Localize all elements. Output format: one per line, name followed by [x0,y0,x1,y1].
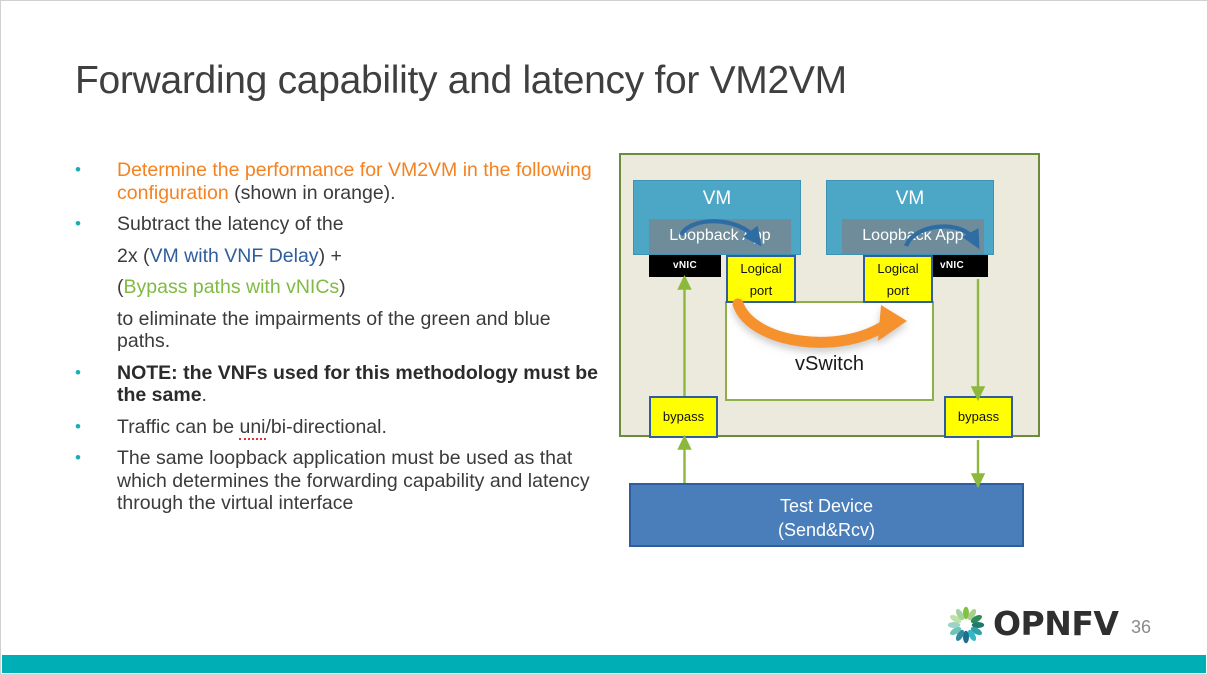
bullet-marker-icon: • [69,213,117,235]
opnfv-logo: OPNFV [945,603,1115,647]
opnfv-wordmark: OPNFV [993,604,1118,643]
bullet-text: Determine the performance for VM2VM in t… [117,159,609,204]
test-device-label-line2: (Send&Rcv) [631,518,1022,542]
bullet-segment-bold: NOTE: the VNFs used for this methodology… [117,362,598,407]
bullet-item-note-vnfs-same: • NOTE: the VNFs used for this methodolo… [69,362,609,407]
bullet-list: • Determine the performance for VM2VM in… [69,159,609,524]
bullet-text: Subtract the latency of the [117,213,609,236]
sub-line-text: to eliminate the impairments of the gree… [69,308,551,353]
loopback-app-label: Loopback App [842,219,984,252]
test-device-label-line1: Test Device [631,494,1022,518]
bullet-segment-post: /bi-directional. [266,416,387,438]
logical-port-box-left: Logical port [726,255,796,303]
bullet-item-subtract-latency: • Subtract the latency of the [69,213,609,236]
vm-title-label: VM [827,188,993,210]
page-title: Forwarding capability and latency for VM… [75,59,1075,103]
loopback-app-label: Loopback App [649,219,791,252]
vswitch-box: vSwitch [725,301,934,401]
sub-line-blue-term: VM with VNF Delay [150,245,319,267]
sub-line-vm-vnf-delay: 2x (VM with VNF Delay) + [117,245,609,268]
bullet-item-determine-performance: • Determine the performance for VM2VM in… [69,159,609,204]
opnfv-petal-logo-icon [945,605,989,645]
bullet-marker-icon: • [69,416,117,438]
bullet-marker-icon: • [69,159,117,181]
bullet-marker-icon: • [69,447,117,469]
logical-port-label-line1: Logical [865,257,931,279]
logical-port-label-line2: port [865,279,931,301]
sub-line-green-term: Bypass paths with vNICs [124,276,340,298]
loopback-app-box-right: Loopback App [842,219,984,254]
test-device-box: Test Device (Send&Rcv) [629,483,1024,547]
logical-port-label-line2: port [728,279,794,301]
bottom-accent-bar [2,655,1206,673]
vm2vm-architecture-diagram: vSwitch VM Loopback App VM Loopback App … [619,153,1043,561]
bullet-item-traffic-directional: • Traffic can be uni/bi-directional. [69,416,609,439]
page-number: 36 [1131,617,1151,638]
spellcheck-word: uni [239,416,265,440]
vnic-box-left: vNIC [649,255,721,277]
slide-canvas: Forwarding capability and latency for VM… [0,0,1208,675]
vm-title-label: VM [634,188,800,210]
vnic-label: vNIC [649,255,721,276]
sub-line-suffix: ) [339,276,346,298]
bullet-segment-dark: (shown in orange). [229,182,396,204]
vm-box-left: VM Loopback App [633,180,801,255]
bullet-text: The same loopback application must be us… [117,447,609,515]
sub-line-eliminate-impairments: to eliminate the impairments of the gree… [69,308,609,353]
bullet-item-loopback-application: • The same loopback application must be … [69,447,609,515]
loopback-app-box-left: Loopback App [649,219,791,254]
bullet-segment-pre: Traffic can be [117,416,239,438]
bypass-label: bypass [651,398,716,436]
sub-line-suffix: ) + [319,245,342,267]
bullet-segment-period: . [202,384,207,406]
logical-port-label-line1: Logical [728,257,794,279]
bypass-label: bypass [946,398,1011,436]
sub-line-bypass-paths: (Bypass paths with vNICs) [117,276,609,299]
bypass-box-left: bypass [649,396,718,438]
vswitch-label: vSwitch [727,353,932,376]
bullet-text: NOTE: the VNFs used for this methodology… [117,362,609,407]
bullet-text: Traffic can be uni/bi-directional. [117,416,609,439]
logical-port-box-right: Logical port [863,255,933,303]
bullet-marker-icon: • [69,362,117,384]
bypass-box-right: bypass [944,396,1013,438]
vm-box-right: VM Loopback App [826,180,994,255]
sub-line-prefix: 2x ( [117,245,150,267]
